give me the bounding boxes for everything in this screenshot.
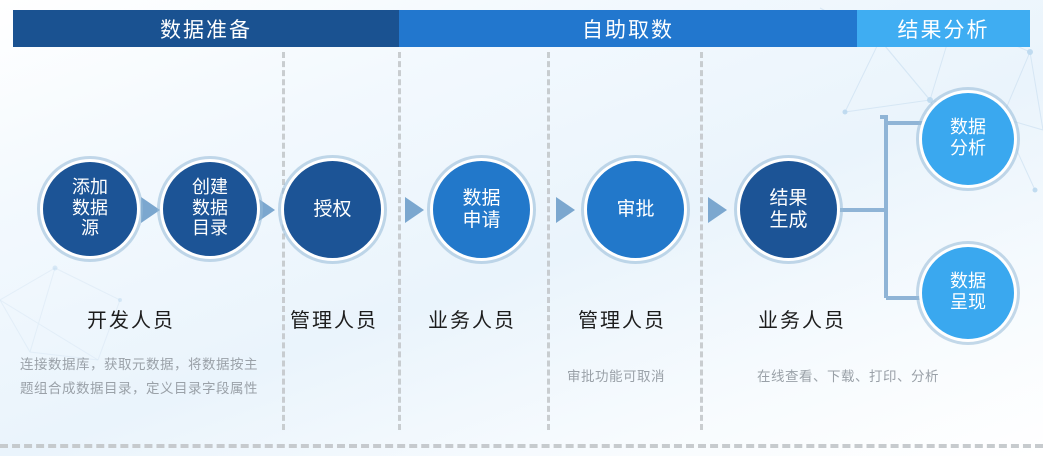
role-label-manager-1: 管理人员 <box>290 304 378 333</box>
node-line: 呈现 <box>950 293 986 314</box>
node-add-data-source[interactable]: 添加 数据 源 <box>40 159 140 259</box>
node-authorize[interactable]: 授权 <box>281 158 384 261</box>
step-arrow-5 <box>708 197 727 223</box>
node-line: 分析 <box>950 139 986 160</box>
lane-divider-3 <box>547 52 550 430</box>
node-approval[interactable]: 审批 <box>584 158 687 261</box>
phase-header-bar: 数据准备 自助取数 结果分析 <box>13 10 1030 47</box>
phase-self-service-query: 自助取数 <box>399 10 857 47</box>
flowchart-canvas: 数据准备 自助取数 结果分析 添加 数据 <box>0 0 1043 456</box>
node-line: 数据 <box>950 272 986 293</box>
node-data-presentation[interactable]: 数据 呈现 <box>919 244 1017 342</box>
node-data-request[interactable]: 数据 申请 <box>430 158 533 261</box>
step-arrow-1 <box>141 197 160 223</box>
step-arrow-3 <box>405 197 424 223</box>
node-line: 添加 <box>72 178 108 199</box>
node-line: 申请 <box>462 210 500 232</box>
node-line: 生成 <box>769 210 807 232</box>
node-line: 目录 <box>192 219 228 240</box>
description-result: 在线查看、下载、打印、分析 <box>757 366 1017 390</box>
node-line: 审批 <box>616 199 654 221</box>
node-line: 创建 <box>192 178 228 199</box>
lane-divider-2 <box>398 52 401 430</box>
lane-divider-1 <box>282 52 285 430</box>
node-line: 结果 <box>769 188 807 210</box>
role-label-manager-2: 管理人员 <box>578 304 666 333</box>
node-line: 数据 <box>192 199 228 220</box>
node-line: 授权 <box>313 199 351 221</box>
phase-label: 数据准备 <box>160 14 252 44</box>
role-label-developer-1: 开发人员 <box>87 304 175 333</box>
phase-label: 结果分析 <box>898 14 990 44</box>
role-label-business-2: 业务人员 <box>758 304 846 333</box>
phase-label: 自助取数 <box>582 14 674 44</box>
description-approval: 审批功能可取消 <box>567 366 727 390</box>
bottom-divider <box>0 444 1043 448</box>
node-data-analysis[interactable]: 数据 分析 <box>919 90 1017 188</box>
node-create-catalog[interactable]: 创建 数据 目录 <box>160 159 260 259</box>
node-line: 源 <box>72 219 108 240</box>
node-line: 数据 <box>72 199 108 220</box>
node-line: 数据 <box>950 118 986 139</box>
node-result-generate[interactable]: 结果 生成 <box>737 158 840 261</box>
role-label-business-1: 业务人员 <box>428 304 516 333</box>
description-data-preparation: 连接数据库，获取元数据，将数据按主题组合成数据目录，定义目录字段属性 <box>20 354 270 401</box>
phase-data-preparation: 数据准备 <box>13 10 399 47</box>
step-arrow-4 <box>556 197 575 223</box>
node-line: 数据 <box>462 188 500 210</box>
phase-result-analysis: 结果分析 <box>857 10 1030 47</box>
